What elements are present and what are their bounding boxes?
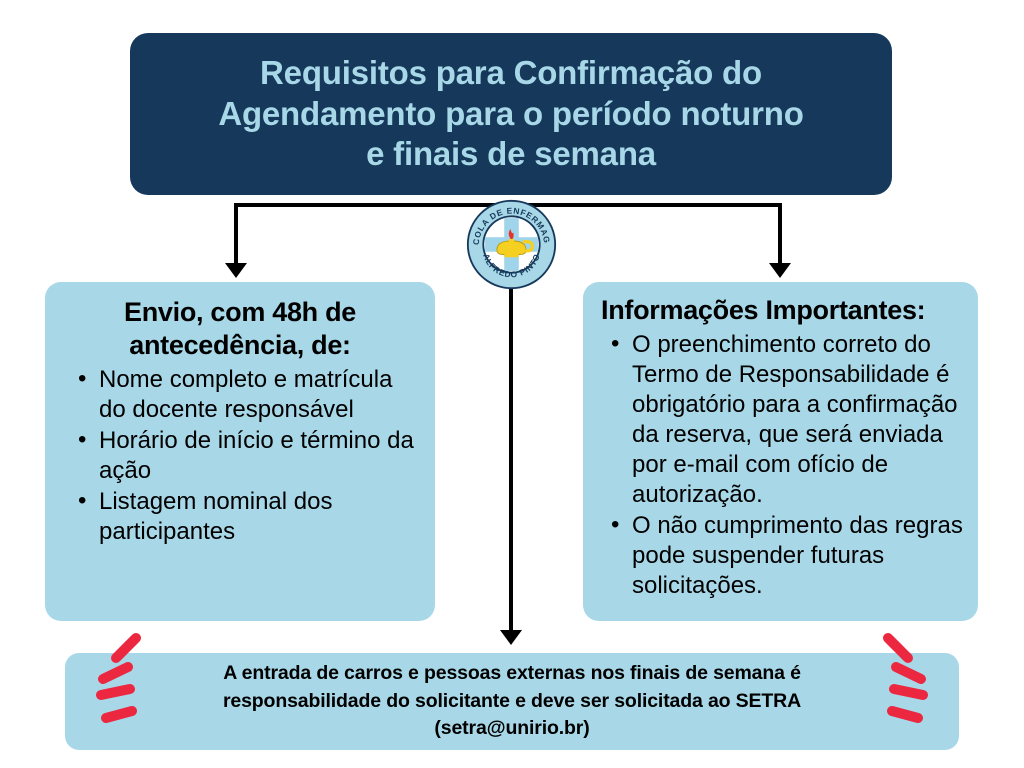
connector-vertical-left — [234, 203, 238, 265]
left-box-bullet-list: Nome completo e matrícula do docente res… — [63, 365, 417, 547]
connector-vertical-right — [778, 203, 782, 265]
left-box-heading: Envio, com 48h de antecedência, de: — [63, 296, 417, 362]
right-box-heading: Informações Importantes: — [597, 294, 964, 327]
page-title: Requisitos para Confirmação do Agendamen… — [218, 53, 803, 176]
list-item: O não cumprimento das regras pode suspen… — [605, 511, 964, 601]
bottom-notice-text: A entrada de carros e pessoas externas n… — [223, 660, 801, 743]
banner-line-3: (setra@unirio.br) — [223, 715, 801, 743]
infographic-canvas: Requisitos para Confirmação do Agendamen… — [0, 0, 1024, 768]
banner-line-2: responsabilidade do solicitante e deve s… — [223, 688, 801, 716]
list-item: Horário de início e término da ação — [72, 426, 417, 486]
list-item: O preenchimento correto do Termo de Resp… — [605, 330, 964, 510]
important-information-box: Informações Importantes: O preenchimento… — [583, 282, 978, 621]
banner-line-1: A entrada de carros e pessoas externas n… — [223, 660, 801, 688]
connector-vertical-center — [509, 282, 513, 632]
list-item: Listagem nominal dos participantes — [72, 487, 417, 547]
arrow-down-right-icon — [769, 263, 791, 278]
right-box-bullet-list: O preenchimento correto do Termo de Resp… — [597, 330, 964, 601]
bottom-notice-banner: A entrada de carros e pessoas externas n… — [65, 653, 959, 750]
title-line-2: Agendamento para o período noturno — [218, 94, 803, 135]
escola-de-enfermagem-logo: ESCOLA DE ENFERMAGEM ALFREDO PINTO — [466, 199, 557, 290]
title-line-1: Requisitos para Confirmação do — [218, 53, 803, 94]
requirements-box-submission: Envio, com 48h de antecedência, de: Nome… — [45, 282, 435, 621]
title-banner: Requisitos para Confirmação do Agendamen… — [130, 33, 892, 195]
arrow-down-center-icon — [500, 630, 522, 645]
arrow-down-left-icon — [225, 263, 247, 278]
title-line-3: e finais de semana — [218, 134, 803, 175]
list-item: Nome completo e matrícula do docente res… — [72, 365, 417, 425]
